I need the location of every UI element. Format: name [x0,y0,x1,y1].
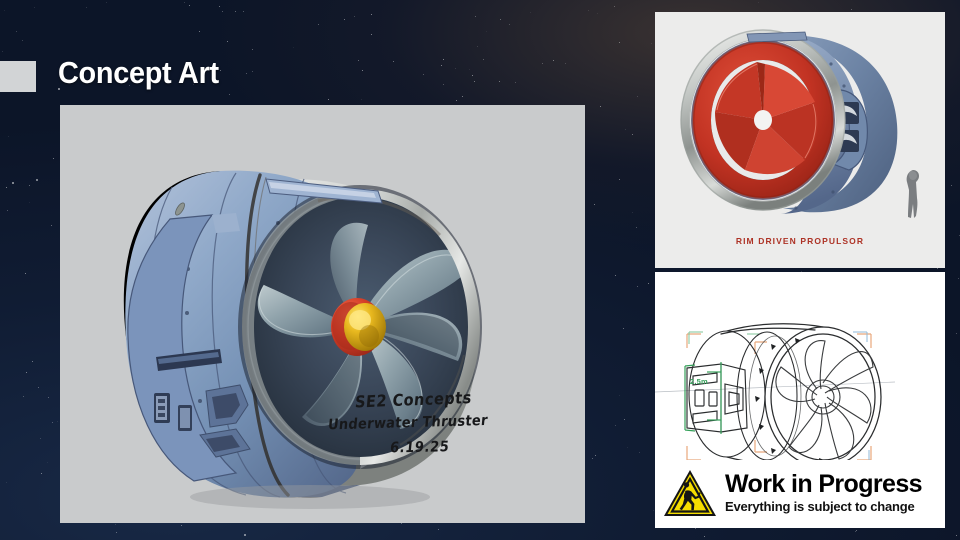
propulsor-caption: RIM DRIVEN PROPULSOR [655,236,945,246]
wip-title: Work in Progress [725,472,922,497]
page-title: Concept Art [58,55,219,91]
main-concept-art-panel[interactable]: SE2 Concepts Underwater Thruster 6.19.25 [60,105,585,523]
rim-driven-propulsor-illustration [655,12,945,268]
title-accent-bar [0,61,36,92]
signature-line-3: 6.19.25 [389,439,450,457]
blueprint-panel[interactable]: 2.5m Work in Progress Everything is subj… [655,272,945,528]
warning-triangle-worker-icon [661,466,719,522]
underwater-thruster-render [60,105,585,523]
wip-subtitle: Everything is subject to change [725,499,922,515]
dimension-label: 2.5m [690,377,708,386]
rim-driven-propulsor-panel[interactable]: RIM DRIVEN PROPULSOR [655,12,945,268]
slide-canvas: Concept Art [0,0,960,540]
work-in-progress-banner: Work in Progress Everything is subject t… [655,460,945,528]
